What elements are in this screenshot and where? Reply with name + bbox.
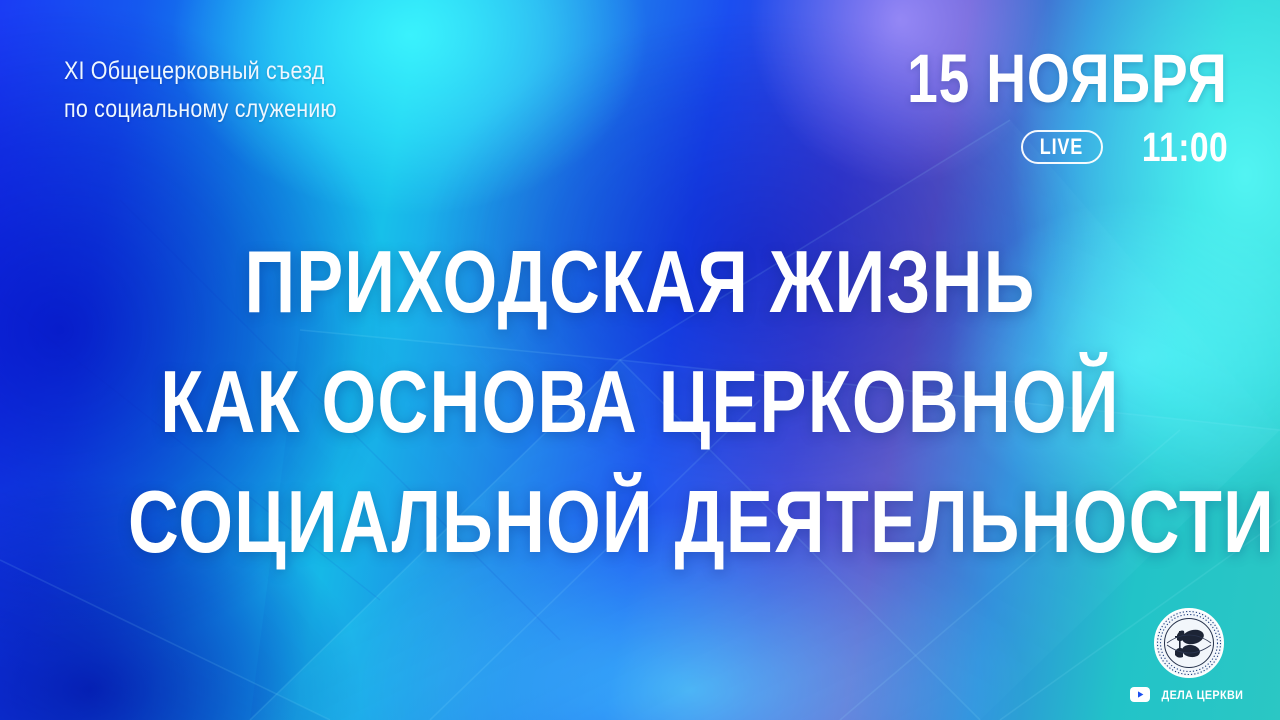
broadcast-time: 11:00 xyxy=(1142,128,1228,166)
branding-cluster: ДЕЛА ЦЕРКВИ xyxy=(1130,607,1248,702)
presentation-slide: XI Общецерковный съездпо социальному слу… xyxy=(0,0,1280,720)
page-title: ПРИХОДСКАЯ ЖИЗНЬ КАК ОСНОВА ЦЕРКОВНОЙ СО… xyxy=(0,222,1280,582)
title-line-1: ПРИХОДСКАЯ ЖИЗНЬ xyxy=(128,222,1152,342)
event-subtitle-line2: по социальному служению xyxy=(64,95,337,123)
play-icon xyxy=(1130,687,1150,702)
title-line-2: КАК ОСНОВА ЦЕРКОВНОЙ xyxy=(128,342,1152,462)
channel-name: ДЕЛА ЦЕРКВИ xyxy=(1162,688,1244,702)
broadcast-date: 15 НОЯБРЯ xyxy=(908,42,1228,116)
broadcast-status-row: LIVE 11:00 xyxy=(827,128,1228,166)
event-subtitle-line1: XI Общецерковный съезд xyxy=(64,57,324,85)
status-badge: LIVE xyxy=(1021,130,1103,164)
channel-badge[interactable]: ДЕЛА ЦЕРКВИ xyxy=(1130,687,1248,702)
title-line-3: СОЦИАЛЬНОЙ ДЕЯТЕЛЬНОСТИ xyxy=(128,462,1152,582)
live-label: LIVE xyxy=(1040,134,1083,160)
event-subtitle: XI Общецерковный съездпо социальному слу… xyxy=(64,52,337,128)
broadcast-info: 15 НОЯБРЯ LIVE 11:00 xyxy=(827,42,1228,166)
church-seal-icon xyxy=(1153,607,1225,679)
